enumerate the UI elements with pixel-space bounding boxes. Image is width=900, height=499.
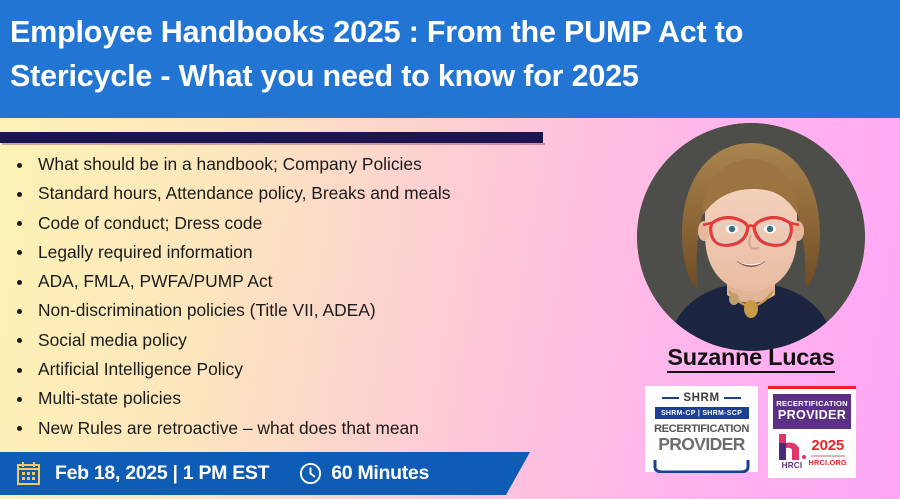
list-item: ADA, FMLA, PWFA/PUMP Act	[10, 267, 570, 296]
list-item: Social media policy	[10, 326, 570, 355]
hrci-provider-label: PROVIDER	[775, 408, 849, 423]
webinar-slide: Employee Handbooks 2025 : From the PUMP …	[0, 0, 900, 499]
hrci-recertification-badge: RECERTIFICATION PROVIDER HRCI 2025 H	[768, 386, 856, 478]
event-details-banner: Feb 18, 2025 | 1 PM EST 60 Minutes	[0, 452, 530, 495]
list-item: Non-discrimination policies (Title VII, …	[10, 296, 570, 325]
hrci-h-logo-icon	[777, 434, 807, 460]
list-item: What should be in a handbook; Company Po…	[10, 150, 570, 179]
section-divider	[0, 132, 543, 143]
hrci-header: RECERTIFICATION PROVIDER	[773, 394, 851, 429]
portrait-illustration	[637, 123, 865, 351]
event-duration: 60 Minutes	[331, 462, 429, 485]
list-item: New Rules are retroactive – what does th…	[10, 414, 570, 443]
hrci-lower: HRCI 2025 HRCI.ORG	[773, 434, 851, 470]
page-title: Employee Handbooks 2025 : From the PUMP …	[10, 10, 872, 98]
event-date: Feb 18, 2025 | 1 PM EST	[55, 462, 269, 485]
credential-badges: SHRM SHRM-CP | SHRM-SCP RECERTIFICATION …	[645, 386, 860, 480]
speaker-photo	[637, 123, 865, 351]
shrm-rule-left	[662, 397, 679, 399]
shrm-provider-label: PROVIDER	[658, 435, 745, 454]
header-banner: Employee Handbooks 2025 : From the PUMP …	[0, 0, 900, 118]
shrm-certifications: SHRM-CP | SHRM-SCP	[655, 407, 749, 419]
hrci-site-label: HRCI.ORG	[808, 458, 847, 467]
list-item: Standard hours, Attendance policy, Break…	[10, 179, 570, 208]
list-item: Multi-state policies	[10, 384, 570, 413]
hrci-org-label: HRCI	[782, 461, 803, 470]
shrm-recertification-badge: SHRM SHRM-CP | SHRM-SCP RECERTIFICATION …	[645, 386, 758, 472]
hrci-year-underline	[811, 455, 845, 457]
hrci-year-block: 2025 HRCI.ORG	[808, 434, 847, 467]
shrm-rule-right	[724, 397, 741, 399]
hrci-logo-block: HRCI	[777, 434, 807, 470]
clock-icon	[299, 462, 322, 485]
speaker-name: Suzanne Lucas	[637, 344, 865, 371]
list-item: Code of conduct; Dress code	[10, 209, 570, 238]
shrm-header: SHRM	[650, 392, 753, 404]
agenda-list: What should be in a handbook; Company Po…	[10, 150, 570, 443]
hrci-year: 2025	[811, 438, 844, 454]
list-item: Legally required information	[10, 238, 570, 267]
shrm-swoosh-icon	[653, 459, 750, 473]
calendar-icon	[16, 461, 41, 486]
hrci-recertification-label: RECERTIFICATION	[775, 399, 849, 408]
list-item: Artificial Intelligence Policy	[10, 355, 570, 384]
shrm-org-label: SHRM	[683, 392, 719, 404]
